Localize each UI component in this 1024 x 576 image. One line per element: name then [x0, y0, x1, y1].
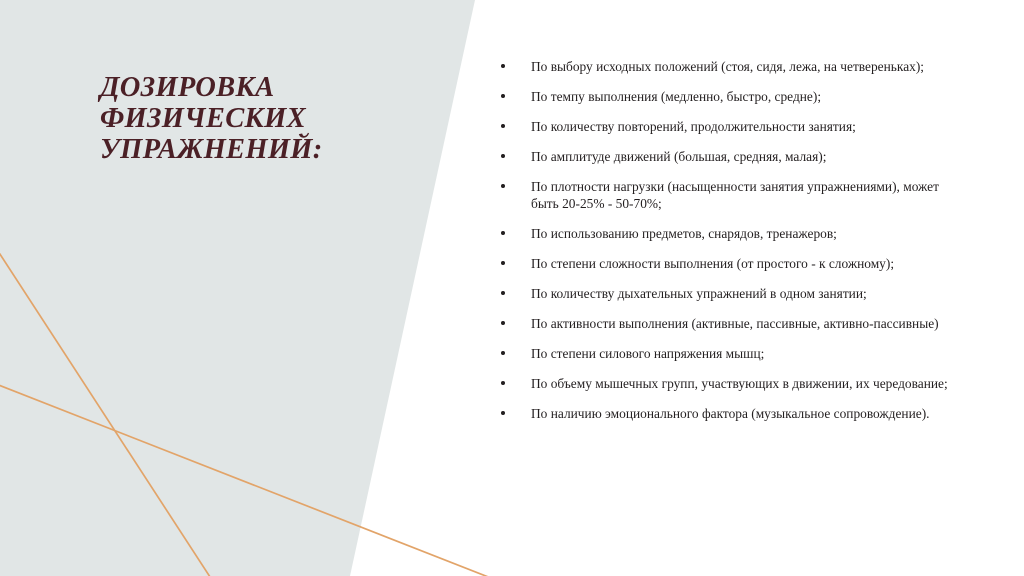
list-item: По плотности нагрузки (насыщенности заня…	[495, 178, 955, 212]
slide-canvas: ДОЗИРОВКА ФИЗИЧЕСКИХ УПРАЖНЕНИЙ: По выбо…	[0, 0, 1024, 576]
list-item: По использованию предметов, снарядов, тр…	[495, 225, 955, 242]
list-item-label: По степени сложности выполнения (от прос…	[531, 255, 955, 272]
list-item-label: По выбору исходных положений (стоя, сидя…	[531, 58, 955, 75]
list-item: По активности выполнения (активные, пасс…	[495, 315, 955, 332]
list-item: По степени силового напряжения мышц;	[495, 345, 955, 362]
bullet-dot-icon	[501, 381, 505, 385]
list-item-label: По активности выполнения (активные, пасс…	[531, 315, 955, 332]
list-item-label: По количеству повторений, продолжительно…	[531, 118, 955, 135]
list-item-label: По степени силового напряжения мышц;	[531, 345, 955, 362]
list-item: По выбору исходных положений (стоя, сидя…	[495, 58, 955, 75]
list-item: По амплитуде движений (большая, средняя,…	[495, 148, 955, 165]
list-item: По темпу выполнения (медленно, быстро, с…	[495, 88, 955, 105]
list-item: По количеству дыхательных упражнений в о…	[495, 285, 955, 302]
diagonal-accent-line-shallow	[0, 384, 496, 576]
list-item: По объему мышечных групп, участвующих в …	[495, 375, 955, 392]
bullet-dot-icon	[501, 351, 505, 355]
list-item-label: По наличию эмоционального фактора (музык…	[531, 405, 955, 422]
list-item-label: По плотности нагрузки (насыщенности заня…	[531, 178, 955, 212]
bullet-dot-icon	[501, 64, 505, 68]
bullet-dot-icon	[501, 154, 505, 158]
list-item-label: По количеству дыхательных упражнений в о…	[531, 285, 955, 302]
diagonal-accent-line-steep	[0, 248, 212, 576]
list-item-label: По темпу выполнения (медленно, быстро, с…	[531, 88, 955, 105]
bullet-dot-icon	[501, 321, 505, 325]
bullet-dot-icon	[501, 411, 505, 415]
bullet-dot-icon	[501, 124, 505, 128]
bullet-dot-icon	[501, 261, 505, 265]
list-item: По наличию эмоционального фактора (музык…	[495, 405, 955, 422]
list-item: По степени сложности выполнения (от прос…	[495, 255, 955, 272]
list-item-label: По использованию предметов, снарядов, тр…	[531, 225, 955, 242]
bullet-dot-icon	[501, 94, 505, 98]
bullet-dot-icon	[501, 291, 505, 295]
list-item: По количеству повторений, продолжительно…	[495, 118, 955, 135]
list-item-label: По объему мышечных групп, участвующих в …	[531, 375, 955, 392]
list-item-label: По амплитуде движений (большая, средняя,…	[531, 148, 955, 165]
bullet-list: По выбору исходных положений (стоя, сидя…	[495, 58, 955, 422]
bullet-dot-icon	[501, 184, 505, 188]
bullet-dot-icon	[501, 231, 505, 235]
page-title: ДОЗИРОВКА ФИЗИЧЕСКИХ УПРАЖНЕНИЙ:	[100, 72, 430, 165]
title-block: ДОЗИРОВКА ФИЗИЧЕСКИХ УПРАЖНЕНИЙ:	[100, 72, 430, 165]
